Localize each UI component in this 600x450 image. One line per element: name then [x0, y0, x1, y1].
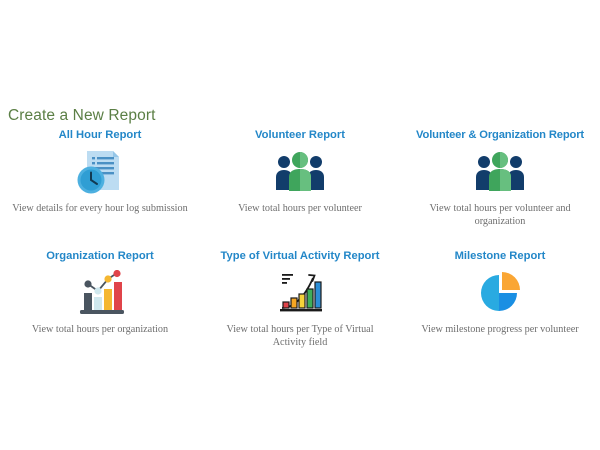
bar-chart-trend-icon[interactable] [71, 267, 129, 319]
report-card-organization[interactable]: Organization Report View total hours per… [0, 249, 200, 349]
report-card-title: Type of Virtual Activity Report [221, 249, 380, 263]
people-group-icon[interactable] [271, 146, 329, 198]
report-card-title: All Hour Report [59, 128, 142, 142]
report-card-description: View milestone progress per volunteer [421, 324, 578, 337]
grid-row-spacer [0, 228, 600, 249]
report-card-title: Organization Report [46, 249, 154, 263]
report-card-description: View total hours per volunteer [238, 203, 362, 216]
report-card-all-hour[interactable]: All Hour Report View details for every h… [0, 128, 200, 228]
document-clock-icon[interactable] [71, 146, 129, 198]
report-card-volunteer-organization[interactable]: Volunteer & Organization Report View tot… [400, 128, 600, 228]
report-card-milestone[interactable]: Milestone Report View milestone progress… [400, 249, 600, 349]
page-title: Create a New Report [8, 107, 156, 125]
report-card-grid: All Hour Report View details for every h… [0, 128, 600, 349]
create-report-page: Create a New Report All Hour Report [0, 0, 600, 450]
people-group-icon[interactable] [471, 146, 529, 198]
report-card-volunteer[interactable]: Volunteer Report View total hours per vo… [200, 128, 400, 228]
report-card-description: View total hours per Type of Virtual Act… [211, 324, 389, 349]
report-card-description: View total hours per organization [32, 324, 168, 337]
report-card-title: Volunteer & Organization Report [416, 128, 584, 142]
report-card-title: Volunteer Report [255, 128, 345, 142]
report-card-virtual-activity[interactable]: Type of Virtual Activity Report View tot… [200, 249, 400, 349]
report-card-description: View total hours per volunteer and organ… [411, 203, 589, 228]
report-card-description: View details for every hour log submissi… [12, 203, 187, 216]
report-card-title: Milestone Report [455, 249, 546, 263]
growth-chart-icon[interactable] [271, 267, 329, 319]
pie-chart-icon[interactable] [471, 267, 529, 319]
